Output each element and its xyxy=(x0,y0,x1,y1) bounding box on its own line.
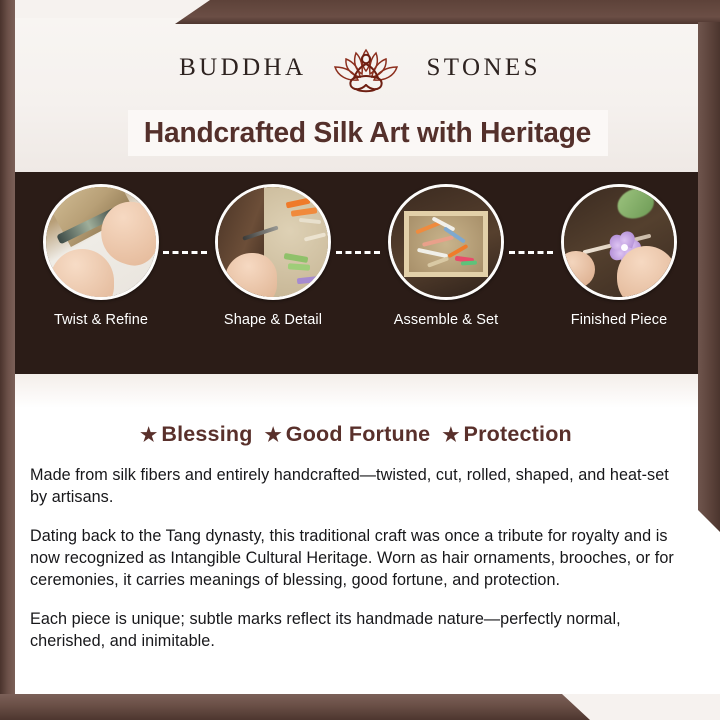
brand-word-right: STONES xyxy=(426,54,540,82)
infographic-page: BUDDHA xyxy=(0,0,720,720)
header: BUDDHA xyxy=(15,18,705,172)
benefit-label: Good Fortune xyxy=(286,422,431,446)
star-icon: ★ xyxy=(442,425,459,446)
benefit-label: Blessing xyxy=(161,422,252,446)
frame-bottom-border xyxy=(0,694,720,720)
page-title: Handcrafted Silk Art with Heritage xyxy=(144,117,591,150)
process-step: Finished Piece xyxy=(533,184,705,328)
star-icon: ★ xyxy=(140,425,157,446)
step-label: Assemble & Set xyxy=(360,312,532,328)
frame-left-border xyxy=(0,0,15,720)
step-label: Finished Piece xyxy=(533,312,705,328)
step-connector-2 xyxy=(336,251,380,254)
step-photo-assemble-set xyxy=(388,184,504,300)
frame-bottom-notch xyxy=(560,672,720,694)
step-label: Shape & Detail xyxy=(187,312,359,328)
process-step: Assemble & Set xyxy=(360,184,532,328)
brand-lockup: BUDDHA xyxy=(15,40,705,96)
description-paragraphs: Made from silk fibers and entirely handc… xyxy=(30,464,690,669)
step-photo-twist-refine xyxy=(43,184,159,300)
step-connector-1 xyxy=(163,251,207,254)
benefits-row: ★Blessing★Good Fortune★Protection xyxy=(15,422,705,447)
process-steps-strip: Twist & Refine Shape xyxy=(15,172,720,374)
process-step: Twist & Refine xyxy=(15,184,187,328)
description-paragraph: Made from silk fibers and entirely handc… xyxy=(30,464,690,508)
panel-top-fade xyxy=(15,374,705,408)
description-panel: ★Blessing★Good Fortune★Protection Made f… xyxy=(15,374,720,694)
description-paragraph: Dating back to the Tang dynasty, this tr… xyxy=(30,525,690,591)
lotus-meditation-svg xyxy=(320,40,412,96)
lotus-meditation-icon xyxy=(320,40,412,96)
brand-word-left: BUDDHA xyxy=(179,54,306,82)
title-band: Handcrafted Silk Art with Heritage xyxy=(128,110,608,156)
step-label: Twist & Refine xyxy=(15,312,187,328)
benefit-label: Protection xyxy=(464,422,572,446)
frame-right-border xyxy=(698,22,720,532)
step-connector-3 xyxy=(509,251,553,254)
step-photo-finished-piece xyxy=(561,184,677,300)
step-photo-shape-detail xyxy=(215,184,331,300)
description-paragraph: Each piece is unique; subtle marks refle… xyxy=(30,608,690,652)
process-step: Shape & Detail xyxy=(187,184,359,328)
star-icon: ★ xyxy=(265,425,282,446)
